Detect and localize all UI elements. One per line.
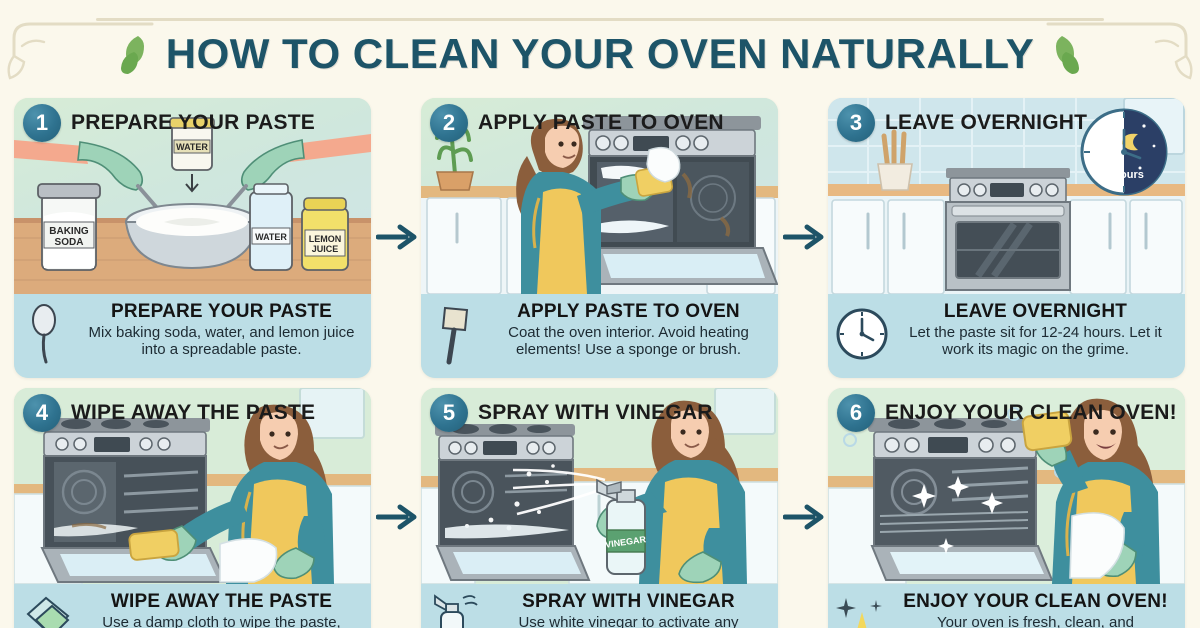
- step-1-caption: PREPARE YOUR PASTE Mix baking soda, wate…: [14, 294, 371, 378]
- page-title-row: HOW TO CLEAN YOUR OVEN NATURALLY: [0, 26, 1200, 82]
- step-card-6[interactable]: 6 ENJOY YOUR CLEAN OVEN! ENJOY YOUR CLEA…: [828, 388, 1185, 628]
- step-6-header: 6 ENJOY YOUR CLEAN OVEN!: [828, 394, 1185, 432]
- step-5-caption: SPRAY WITH VINEGAR Use white vinegar to …: [421, 584, 778, 628]
- step-4-header: 4 WIPE AWAY THE PASTE: [14, 394, 371, 432]
- step-card-2[interactable]: 2 APPLY PASTE TO OVEN APPLY PASTE TO OVE…: [421, 98, 778, 378]
- svg-text:LEMON: LEMON: [309, 234, 342, 244]
- step-2-caption-desc: Coat the oven interior. Avoid heating el…: [487, 324, 770, 359]
- leaf-icon-left: [118, 32, 152, 76]
- svg-text:WATER: WATER: [255, 232, 287, 242]
- step-4-caption-title: WIPE AWAY THE PASTE: [80, 592, 363, 612]
- step-4-caption: WIPE AWAY THE PASTE Use a damp cloth to …: [14, 584, 371, 628]
- step-4-heading: WIPE AWAY THE PASTE: [71, 401, 315, 425]
- step-1-caption-title: PREPARE YOUR PASTE: [80, 302, 363, 322]
- cloth-icon: [22, 590, 74, 628]
- page-title: HOW TO CLEAN YOUR OVEN NATURALLY: [166, 30, 1035, 78]
- flow-arrow-5-to-6: [783, 502, 827, 532]
- frame-top-line: [96, 18, 1104, 21]
- svg-text:JUICE: JUICE: [312, 244, 339, 254]
- step-5-caption-title: SPRAY WITH VINEGAR: [487, 592, 770, 612]
- step-number-badge-2: 2: [430, 104, 468, 142]
- step-6-caption-title: ENJOY YOUR CLEAN OVEN!: [894, 592, 1177, 612]
- step-1-heading: PREPARE YOUR PASTE: [71, 111, 315, 135]
- step-number-badge-5: 5: [430, 394, 468, 432]
- svg-text:SODA: SODA: [55, 237, 84, 248]
- step-number-badge-1: 1: [23, 104, 61, 142]
- step-card-5[interactable]: VINEGAR 5 SPRAY WITH VINEGAR SPRAY WITH …: [421, 388, 778, 628]
- step-2-caption: APPLY PASTE TO OVEN Coat the oven interi…: [421, 294, 778, 378]
- step-3-caption: LEAVE OVERNIGHT Let the paste sit for 12…: [828, 294, 1185, 378]
- clock-icon: [836, 300, 888, 370]
- svg-text:BAKING: BAKING: [49, 226, 89, 237]
- step-2-heading: APPLY PASTE TO OVEN: [478, 111, 724, 135]
- step-card-1[interactable]: WATER BAKING SODA WATER LEMON JUIC: [14, 98, 371, 378]
- step-5-header: 5 SPRAY WITH VINEGAR: [421, 394, 778, 432]
- flow-arrow-2-to-3: [783, 222, 827, 252]
- step-6-heading: ENJOY YOUR CLEAN OVEN!: [885, 401, 1177, 425]
- svg-text:WATER: WATER: [176, 142, 208, 152]
- step-card-3[interactable]: 8 hours 3 LEAVE OVERNIGHT LEAVE OVERNIGH…: [828, 98, 1185, 378]
- step-3-header: 3 LEAVE OVERNIGHT: [828, 104, 1185, 142]
- step-1-header: 1 PREPARE YOUR PASTE: [14, 104, 371, 142]
- steps-grid: WATER BAKING SODA WATER LEMON JUIC: [14, 98, 1186, 628]
- step-4-caption-desc: Use a damp cloth to wipe the paste,: [80, 614, 363, 628]
- svg-text:8 hours: 8 hours: [1104, 169, 1144, 181]
- flow-arrow-4-to-5: [376, 502, 420, 532]
- step-3-caption-desc: Let the paste sit for 12-24 hours. Let i…: [894, 324, 1177, 359]
- step-3-caption-title: LEAVE OVERNIGHT: [894, 302, 1177, 322]
- spray-bottle-icon: [429, 590, 481, 628]
- step-2-caption-title: APPLY PASTE TO OVEN: [487, 302, 770, 322]
- step-number-badge-6: 6: [837, 394, 875, 432]
- step-number-badge-3: 3: [837, 104, 875, 142]
- leaf-icon-right: [1048, 32, 1082, 76]
- step-card-4[interactable]: 4 WIPE AWAY THE PASTE WIPE AWAY THE PAST…: [14, 388, 371, 628]
- step-3-heading: LEAVE OVERNIGHT: [885, 111, 1087, 135]
- step-2-header: 2 APPLY PASTE TO OVEN: [421, 104, 778, 142]
- step-1-caption-desc: Mix baking soda, water, and lemon juice …: [80, 324, 363, 359]
- step-6-caption: ENJOY YOUR CLEAN OVEN! Your oven is fres…: [828, 584, 1185, 628]
- step-5-heading: SPRAY WITH VINEGAR: [478, 401, 713, 425]
- flow-arrow-1-to-2: [376, 222, 420, 252]
- step-number-badge-4: 4: [23, 394, 61, 432]
- spatula-icon: [429, 300, 481, 370]
- sparkle-icon: [836, 590, 888, 628]
- step-6-caption-desc: Your oven is fresh, clean, and: [894, 614, 1177, 628]
- spoon-icon: [22, 300, 74, 370]
- step-5-caption-desc: Use white vinegar to activate any: [487, 614, 770, 628]
